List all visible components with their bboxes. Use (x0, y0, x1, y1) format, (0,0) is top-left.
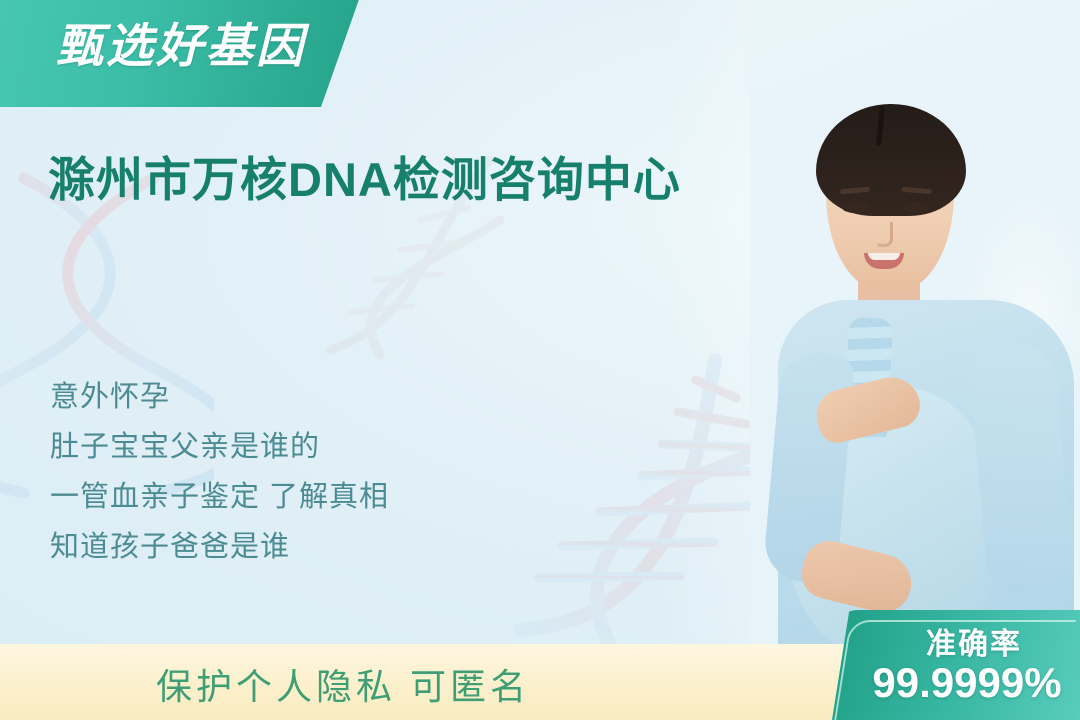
accuracy-value: 99.9999% (858, 659, 1076, 707)
promo-banner: 甄选好基因 滁州市万核DNA检测咨询中心 意外怀孕 肚子宝宝父亲是谁的 一管血亲… (0, 0, 1080, 720)
privacy-text: 保护个人隐私 可匿名 (156, 658, 530, 710)
selling-point-line: 知道孩子爸爸是谁 (50, 522, 389, 572)
eye-left (842, 202, 868, 213)
selling-point-line: 一管血亲子鉴定 了解真相 (50, 472, 389, 522)
brand-logo-text: 甄选好基因 (56, 24, 306, 71)
selling-point-line: 肚子宝宝父亲是谁的 (50, 422, 389, 472)
teeth (868, 253, 900, 260)
accuracy-label: 准确率 (868, 619, 1080, 663)
eye-right (903, 202, 929, 213)
nose (877, 222, 893, 247)
page-title: 滁州市万核DNA检测咨询中心 (48, 153, 681, 207)
selling-point-line: 意外怀孕 (50, 372, 389, 422)
selling-points: 意外怀孕 肚子宝宝父亲是谁的 一管血亲子鉴定 了解真相 知道孩子爸爸是谁 (50, 372, 389, 572)
